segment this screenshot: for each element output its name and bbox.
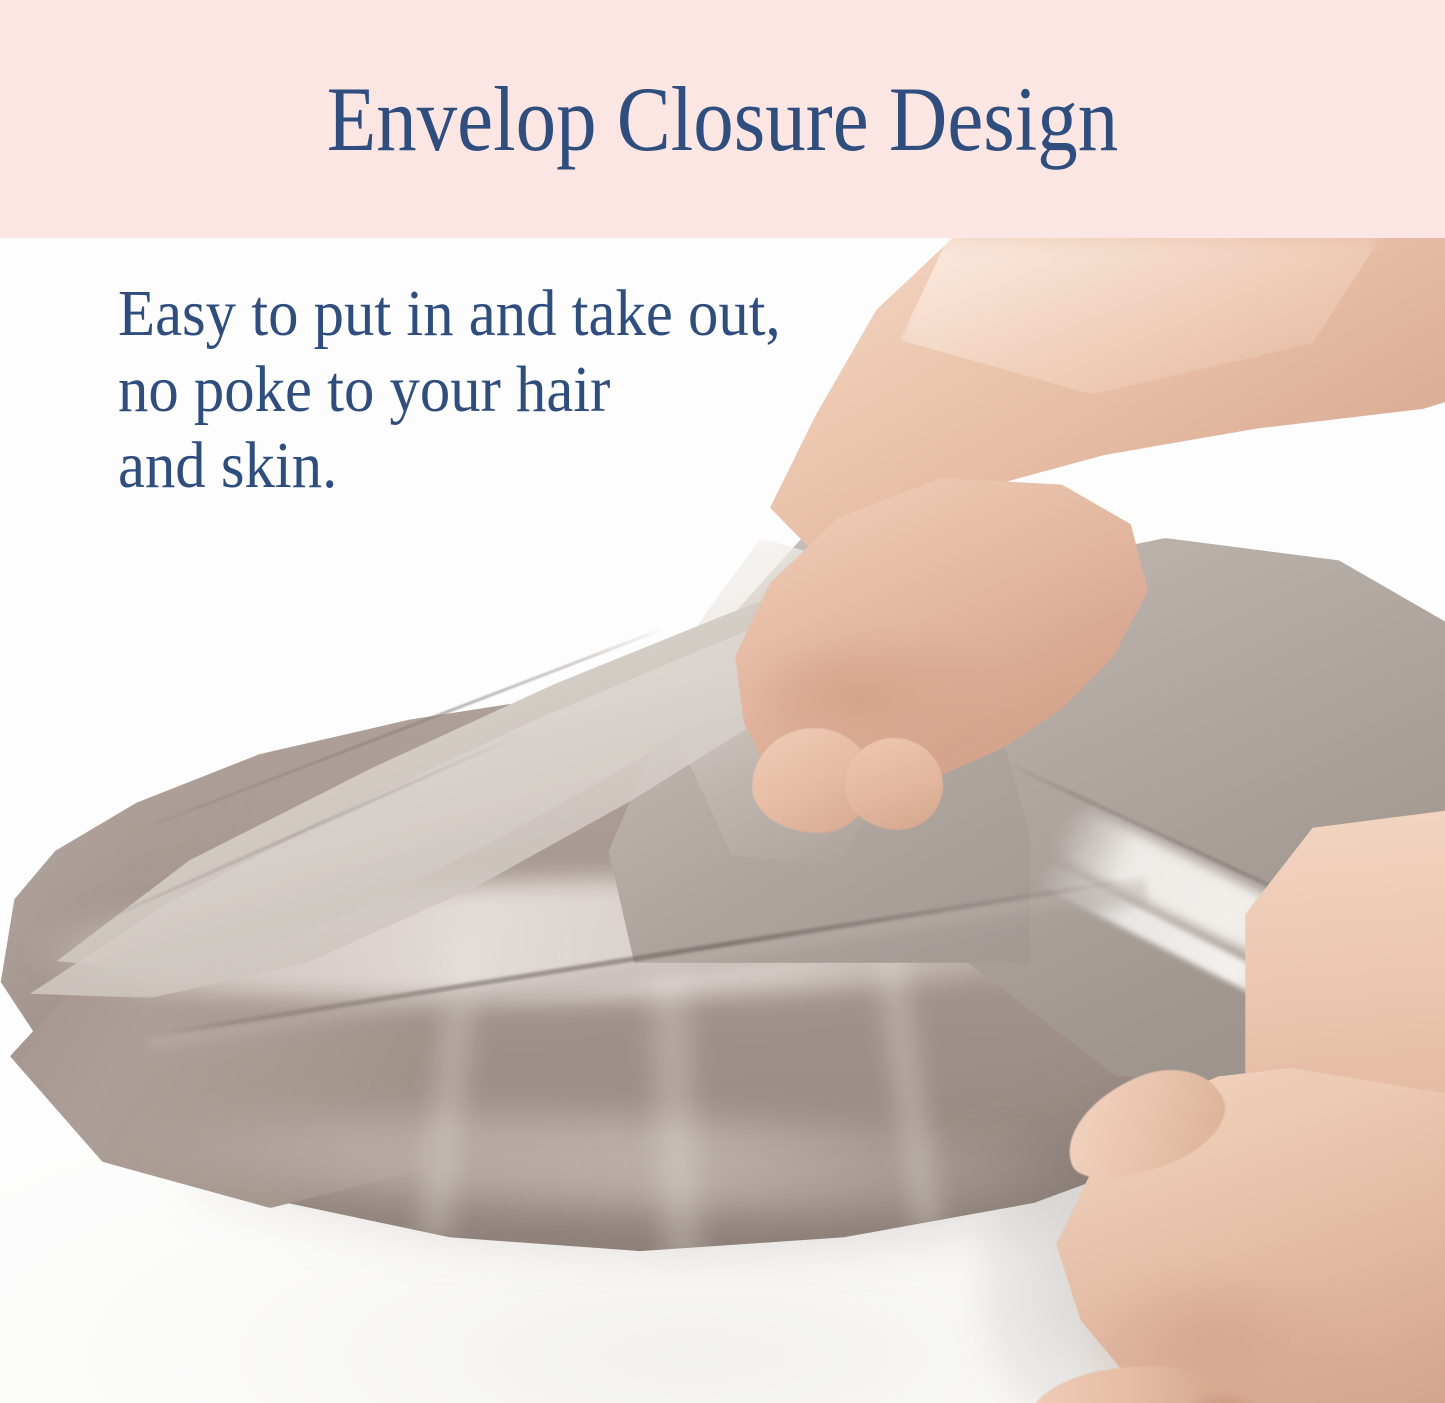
page-title: Envelop Closure Design — [87, 0, 1359, 238]
upper-hand-index-finger — [845, 738, 943, 830]
product-photo — [0, 238, 1445, 1403]
header-banner: Envelop Closure Design — [0, 0, 1445, 238]
product-feature-graphic: Envelop Closure Design — [0, 0, 1445, 1403]
